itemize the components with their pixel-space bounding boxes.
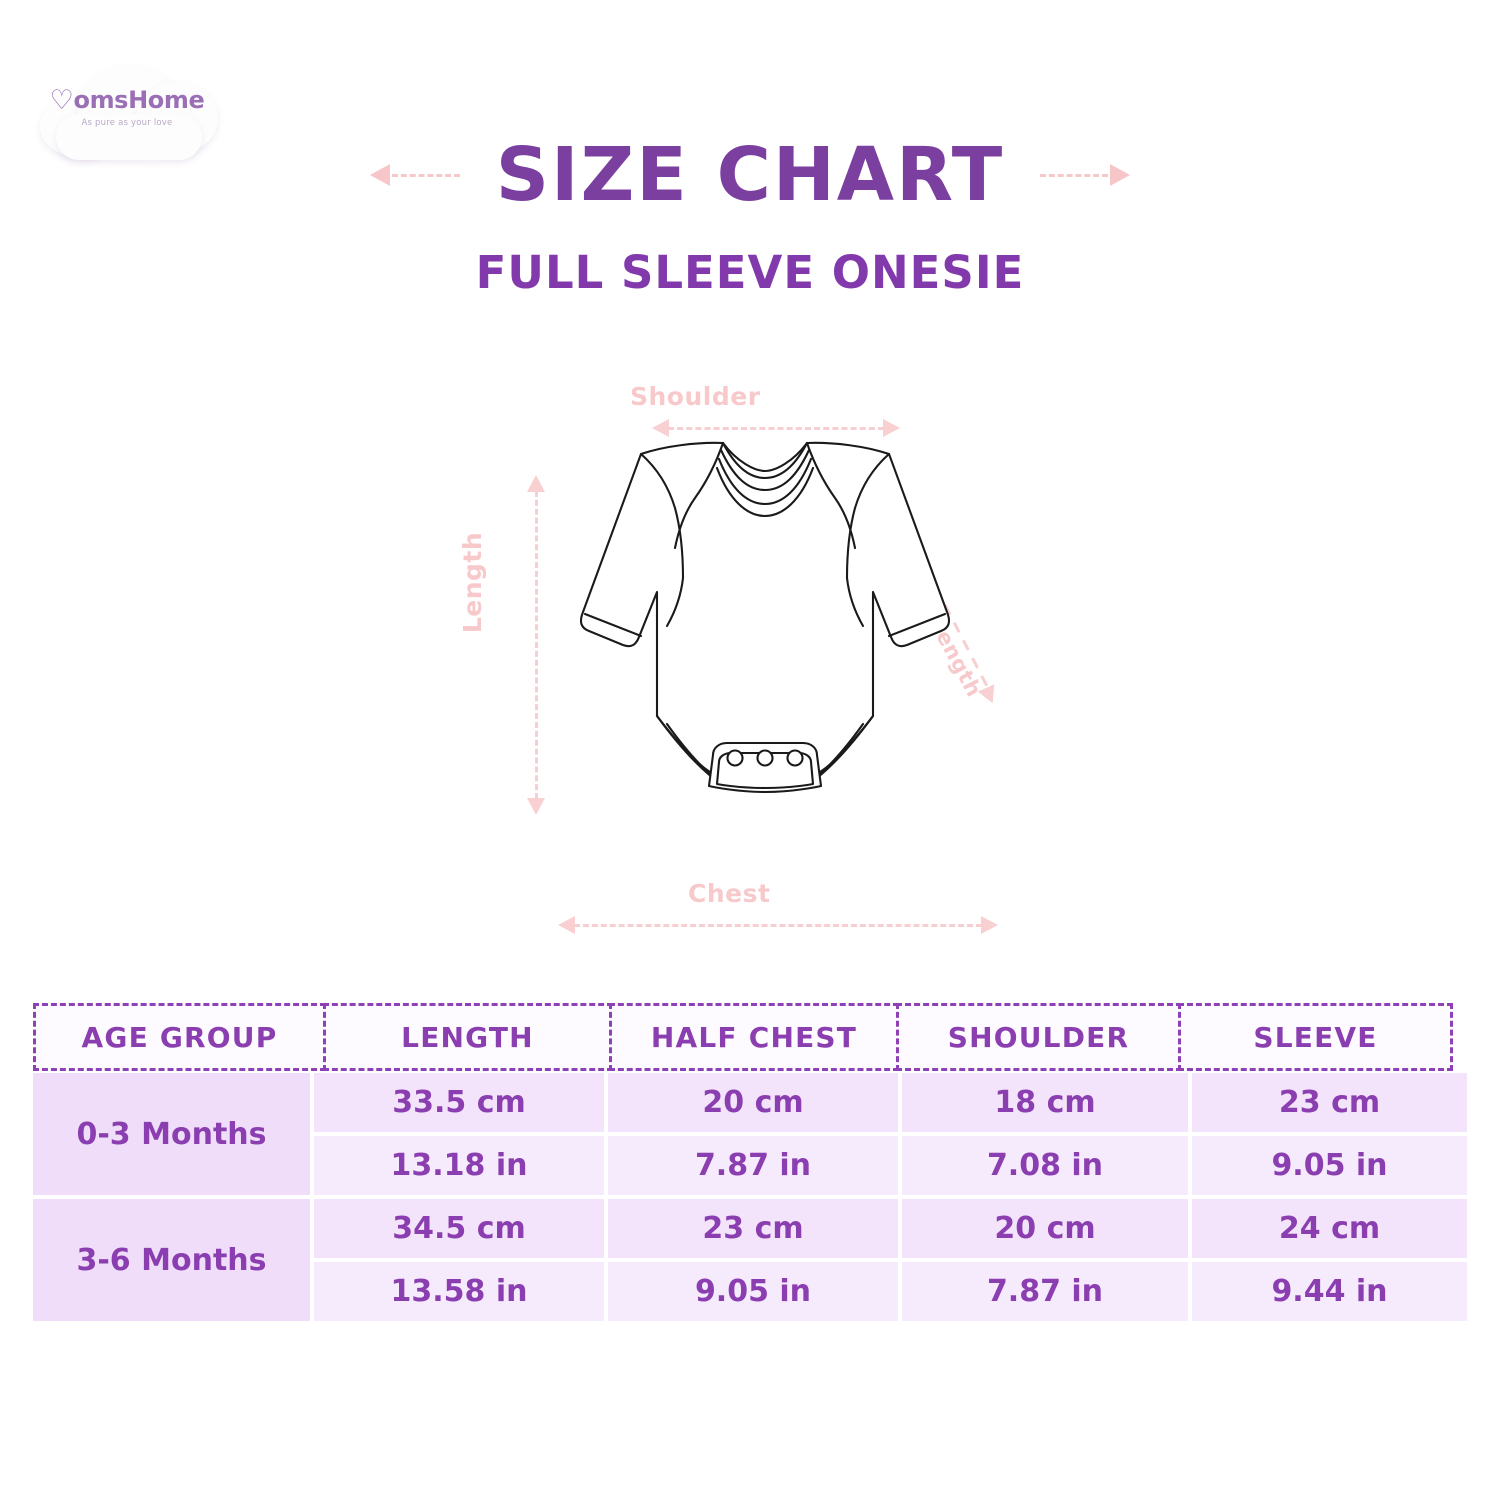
size-table: AGE GROUP LENGTH HALF CHEST SHOULDER SLE… [33, 1003, 1467, 1321]
cell-shoulder-cm: 18 cm [902, 1073, 1188, 1132]
title-left-arrow-icon [370, 164, 482, 186]
brand-tagline: As pure as your love [32, 118, 222, 128]
heart-m-icon: ♡ [50, 85, 74, 116]
cell-length-cm: 34.5 cm [314, 1199, 604, 1258]
cell-shoulder-in: 7.87 in [902, 1262, 1188, 1321]
onesie-illustration: Shoulder Length Sleeve Length Chest [430, 370, 1090, 970]
table-row: 3-6 Months 34.5 cm 23 cm 20 cm 24 cm 13.… [33, 1199, 1467, 1321]
shoulder-measure-label: Shoulder [630, 382, 761, 411]
column-header-half-chest: HALF CHEST [609, 1003, 899, 1071]
table-subrow-cm: 33.5 cm 20 cm 18 cm 23 cm [310, 1073, 1467, 1132]
cell-length-in: 13.18 in [314, 1136, 604, 1195]
snap-button-icon [758, 751, 773, 766]
brand-name: ♡omsHome [32, 84, 222, 115]
page-title: SIZE CHART [496, 138, 1004, 212]
onesie-garment-drawing [555, 440, 975, 870]
shoulder-measure-arrow-icon [652, 418, 900, 438]
logo-text-group: ♡omsHome As pure as your love [32, 84, 222, 128]
column-header-length: LENGTH [323, 1003, 613, 1071]
brand-name-text: omsHome [73, 86, 204, 114]
cell-half-chest-in: 7.87 in [608, 1136, 898, 1195]
age-group-cell: 0-3 Months [33, 1073, 310, 1195]
cell-length-in: 13.58 in [314, 1262, 604, 1321]
column-header-sleeve: SLEEVE [1178, 1003, 1453, 1071]
length-measure-label: Length [458, 532, 487, 633]
cell-half-chest-in: 9.05 in [608, 1262, 898, 1321]
cell-half-chest-cm: 20 cm [608, 1073, 898, 1132]
table-row: 0-3 Months 33.5 cm 20 cm 18 cm 23 cm 13.… [33, 1073, 1467, 1195]
cell-sleeve-cm: 23 cm [1192, 1073, 1467, 1132]
cell-sleeve-in: 9.05 in [1192, 1136, 1467, 1195]
snap-button-icon [788, 751, 803, 766]
column-header-age-group: AGE GROUP [33, 1003, 326, 1071]
size-chart-page: ♡omsHome As pure as your love SIZE CHART… [0, 0, 1500, 1500]
table-subrow-in: 13.18 in 7.87 in 7.08 in 9.05 in [310, 1136, 1467, 1195]
page-subtitle: FULL SLEEVE ONESIE [0, 246, 1500, 299]
cell-sleeve-cm: 24 cm [1192, 1199, 1467, 1258]
table-subrow-cm: 34.5 cm 23 cm 20 cm 24 cm [310, 1199, 1467, 1258]
column-header-shoulder: SHOULDER [896, 1003, 1182, 1071]
length-measure-arrow-icon [526, 475, 546, 815]
cell-half-chest-cm: 23 cm [608, 1199, 898, 1258]
cell-shoulder-cm: 20 cm [902, 1199, 1188, 1258]
table-body: 0-3 Months 33.5 cm 20 cm 18 cm 23 cm 13.… [33, 1073, 1467, 1321]
cell-shoulder-in: 7.08 in [902, 1136, 1188, 1195]
cell-length-cm: 33.5 cm [314, 1073, 604, 1132]
cell-sleeve-in: 9.44 in [1192, 1262, 1467, 1321]
title-right-arrow-icon [1018, 164, 1130, 186]
chest-measure-label: Chest [688, 879, 770, 908]
snap-button-icon [728, 751, 743, 766]
age-group-cell: 3-6 Months [33, 1199, 310, 1321]
title-row: SIZE CHART [0, 132, 1500, 218]
table-header-row: AGE GROUP LENGTH HALF CHEST SHOULDER SLE… [33, 1003, 1467, 1071]
chest-measure-arrow-icon [558, 915, 998, 935]
table-subrow-in: 13.58 in 9.05 in 7.87 in 9.44 in [310, 1262, 1467, 1321]
